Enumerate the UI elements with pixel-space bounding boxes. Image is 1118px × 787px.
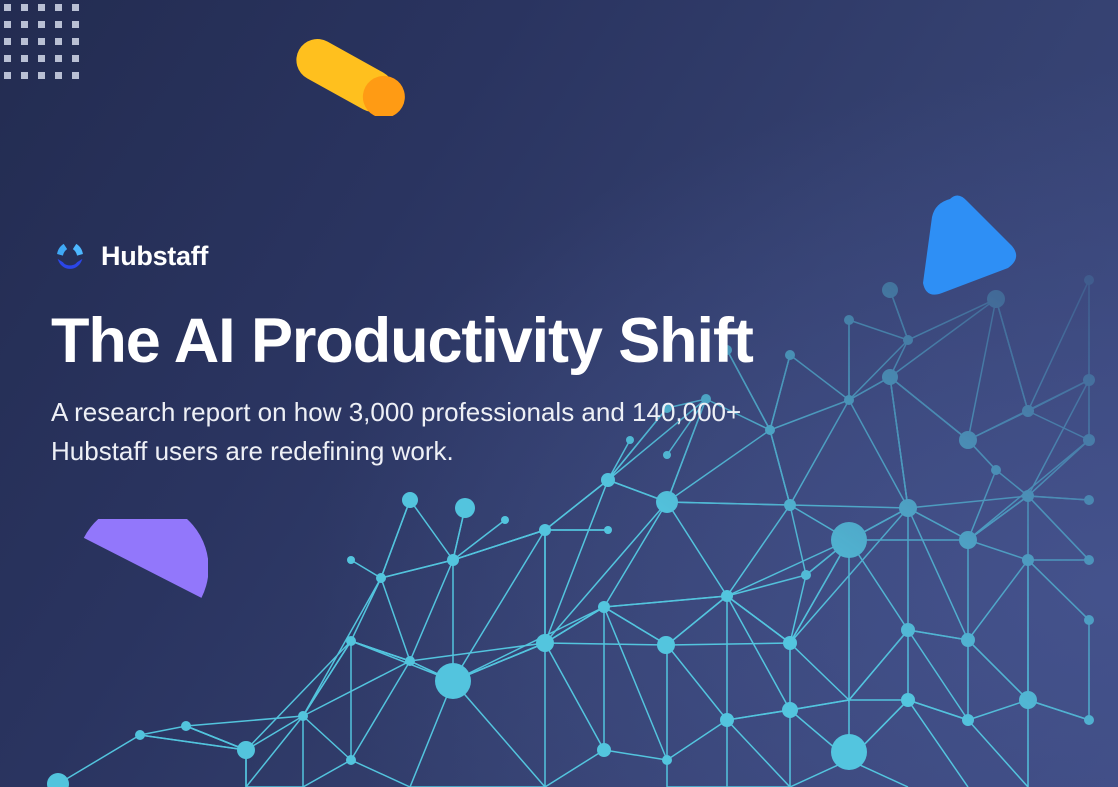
- brand-lockup: Hubstaff: [51, 233, 911, 279]
- page-title: The AI Productivity Shift: [51, 308, 911, 374]
- page-subtitle: A research report on how 3,000 professio…: [51, 393, 821, 470]
- half-circle-shape-icon: [70, 519, 208, 631]
- report-cover-page: Hubstaff The AI Productivity Shift A res…: [0, 0, 1118, 787]
- hubstaff-logo-icon: [51, 237, 89, 275]
- cylinder-shape-icon: [286, 38, 410, 116]
- brand-name: Hubstaff: [101, 241, 208, 272]
- cover-content: Hubstaff The AI Productivity Shift A res…: [51, 233, 911, 470]
- rounded-triangle-shape-icon: [906, 191, 1022, 301]
